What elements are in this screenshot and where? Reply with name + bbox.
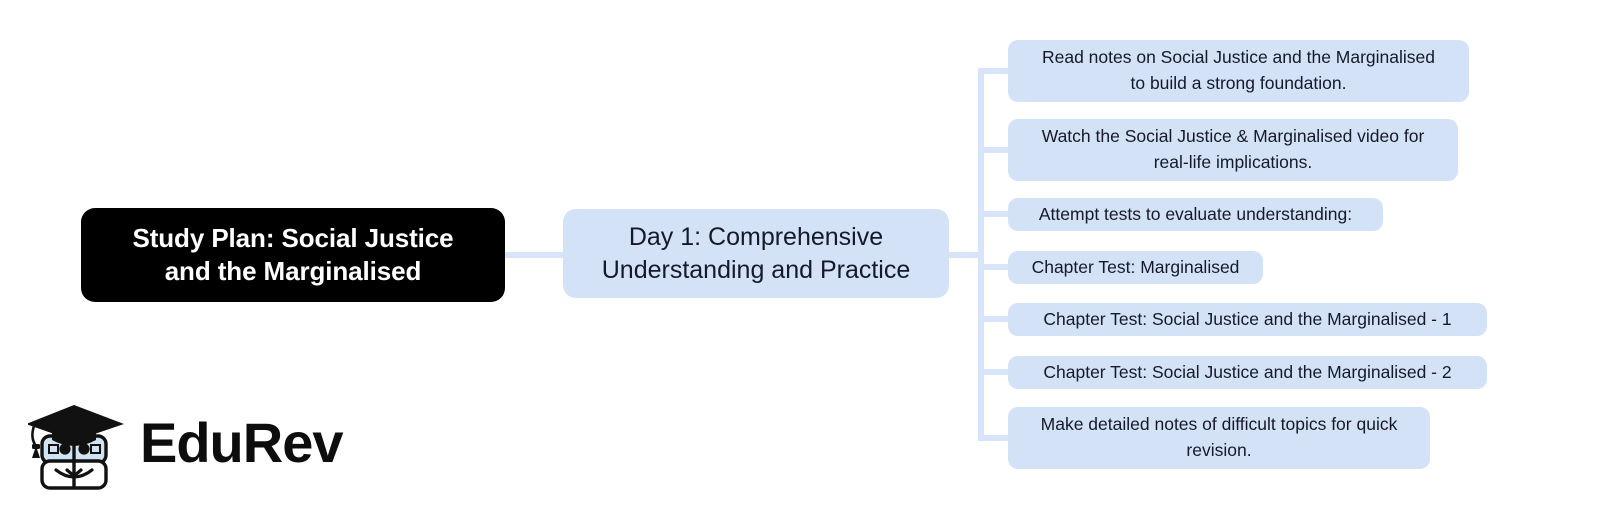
leaf-node-label: Make detailed notes of difficult topics … — [1041, 412, 1398, 463]
branch-node-label: Day 1: Comprehensive Understanding and P… — [602, 221, 911, 286]
leaf-node-line-1: Read notes on Social Justice and the Mar… — [1042, 45, 1435, 71]
connector-leaf-stub-2 — [978, 147, 1010, 153]
leaf-node-line-2: real-life implications. — [1042, 150, 1425, 176]
mindmap-branch-node-day-1[interactable]: Day 1: Comprehensive Understanding and P… — [563, 209, 949, 298]
root-node-line-1: Study Plan: Social Justice — [132, 222, 453, 255]
leaf-node-line-1: Chapter Test: Social Justice and the Mar… — [1043, 307, 1451, 333]
connector-leaf-stub-5 — [978, 316, 1010, 322]
connector-leaf-stub-3 — [978, 211, 1010, 217]
connector-trunk-vertical — [978, 68, 984, 441]
leaf-node-line-2: to build a strong foundation. — [1042, 71, 1435, 97]
leaf-node-line-1: Watch the Social Justice & Marginalised … — [1042, 124, 1425, 150]
mindmap-root-node[interactable]: Study Plan: Social Justice and the Margi… — [81, 208, 505, 302]
branch-node-line-2: Understanding and Practice — [602, 254, 911, 287]
mindmap-leaf-node[interactable]: Read notes on Social Justice and the Mar… — [1008, 40, 1469, 102]
leaf-node-label: Attempt tests to evaluate understanding: — [1039, 202, 1352, 228]
root-node-line-2: and the Marginalised — [132, 255, 453, 288]
mindmap-leaf-node[interactable]: Chapter Test: Social Justice and the Mar… — [1008, 356, 1487, 389]
leaf-node-line-1: Make detailed notes of difficult topics … — [1041, 412, 1398, 438]
edurev-logo: EduRev — [28, 400, 318, 492]
connector-leaf-stub-6 — [978, 369, 1010, 375]
mindmap-leaf-node[interactable]: Make detailed notes of difficult topics … — [1008, 407, 1430, 469]
branch-node-line-1: Day 1: Comprehensive — [602, 221, 911, 254]
edurev-wordmark: EduRev — [140, 412, 343, 474]
leaf-node-label: Read notes on Social Justice and the Mar… — [1042, 45, 1435, 96]
leaf-node-line-1: Attempt tests to evaluate understanding: — [1039, 202, 1352, 228]
mindmap-leaf-node[interactable]: Attempt tests to evaluate understanding: — [1008, 198, 1383, 231]
root-node-label: Study Plan: Social Justice and the Margi… — [132, 222, 453, 288]
connector-leaf-stub-1 — [978, 68, 1010, 74]
mindmap-leaf-node[interactable]: Chapter Test: Marginalised — [1008, 251, 1263, 284]
leaf-node-label: Chapter Test: Social Justice and the Mar… — [1043, 307, 1451, 333]
edurev-mascot-icon — [28, 400, 132, 492]
connector-leaf-stub-4 — [978, 264, 1010, 270]
connector-leaf-stub-7 — [978, 435, 1010, 441]
leaf-node-line-1: Chapter Test: Social Justice and the Mar… — [1043, 360, 1451, 386]
leaf-node-label: Chapter Test: Marginalised — [1032, 255, 1240, 281]
leaf-node-label: Chapter Test: Social Justice and the Mar… — [1043, 360, 1451, 386]
leaf-node-label: Watch the Social Justice & Marginalised … — [1042, 124, 1425, 175]
leaf-node-line-1: Chapter Test: Marginalised — [1032, 255, 1240, 281]
mindmap-leaf-node[interactable]: Chapter Test: Social Justice and the Mar… — [1008, 303, 1487, 336]
leaf-node-line-2: revision. — [1041, 438, 1398, 464]
mindmap-canvas: Study Plan: Social Justice and the Margi… — [0, 0, 1600, 518]
mindmap-leaf-node[interactable]: Watch the Social Justice & Marginalised … — [1008, 119, 1458, 181]
connector-root-to-branch — [504, 252, 564, 258]
